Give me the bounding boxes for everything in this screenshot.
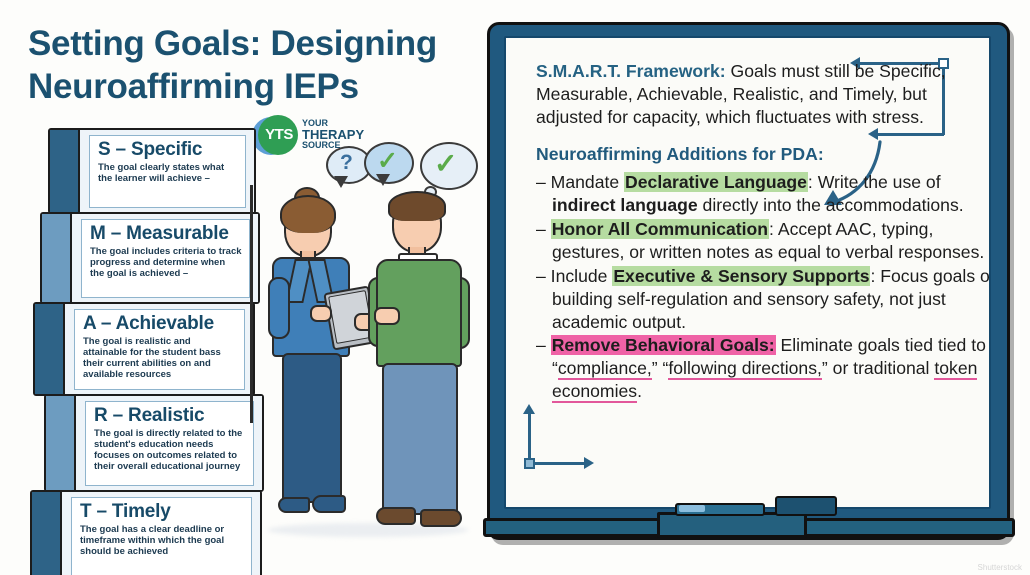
arrow-line-vertical-bottom-left — [528, 412, 531, 460]
smart-box-realistic: R – Realistic The goal is directly relat… — [44, 394, 264, 492]
logo-monogram: YTS — [259, 126, 299, 143]
neuroaffirming-bullet-list: – Mandate Declarative Language: Write th… — [536, 171, 966, 403]
bullet-underline-compliance: compliance, — [558, 358, 652, 380]
whiteboard-text: S.M.A.R.T. Framework: Goals must still b… — [536, 60, 966, 404]
smart-box-title: A – Achievable — [83, 314, 237, 335]
smart-box-timely: T – Timely The goal has a clear deadline… — [30, 490, 262, 575]
box-side-panel — [42, 214, 72, 302]
checkmark-icon: ✓ — [377, 149, 398, 174]
smart-box-title: M – Measurable — [90, 224, 242, 245]
box-face: T – Timely The goal has a clear deadline… — [62, 492, 260, 575]
woman-hair — [280, 195, 336, 233]
box-face: R – Realistic The goal is directly relat… — [76, 396, 262, 490]
bullet-pre-text: Mandate — [546, 172, 624, 192]
bullet-highlight: Remove Behavioral Goals: — [551, 335, 776, 355]
man-jeans — [382, 363, 458, 515]
smart-framework-label: S.M.A.R.T. Framework: — [536, 61, 726, 81]
smart-box-title: R – Realistic — [94, 406, 246, 427]
watermark-text: Shutterstock — [978, 563, 1022, 572]
man-hair — [388, 191, 446, 221]
people-illustration — [250, 185, 490, 570]
smart-box-achievable: A – Achievable The goal is realistic and… — [33, 302, 255, 396]
bullet-mid-b: ” or traditional — [822, 358, 934, 378]
bullet-remove-behavioral-goals: – Remove Behavioral Goals: Eliminate goa… — [536, 334, 991, 403]
box-face: A – Achievable The goal is realistic and… — [65, 304, 253, 394]
man-shoe-right — [420, 509, 462, 527]
arrow-line-horizontal-bottom-left — [535, 462, 585, 465]
bullet-highlight: Declarative Language — [624, 172, 808, 192]
smart-box-desc: The goal includes criteria to track prog… — [90, 246, 242, 279]
whiteboard-surface: S.M.A.R.T. Framework: Goals must still b… — [504, 36, 991, 509]
smart-box-desc: The goal is realistic and attainable for… — [83, 336, 237, 380]
infographic-page: Setting Goals: Designing Neuroaffirming … — [0, 0, 1030, 575]
box-face: S – Specific The goal clearly states wha… — [80, 130, 254, 212]
box-side-panel — [46, 396, 76, 490]
box-side-panel — [50, 130, 80, 212]
smart-framework-paragraph: S.M.A.R.T. Framework: Goals must still b… — [536, 60, 966, 129]
checkmark-thought-icon: ✓ — [434, 150, 457, 178]
man-shoe-left — [376, 507, 416, 525]
whiteboard-marker — [775, 496, 837, 516]
whiteboard-eraser-top — [679, 505, 705, 512]
bullet-mid-a: ” “ — [652, 358, 669, 378]
bullet-post-b: directly into the accommodations. — [698, 195, 964, 215]
bullet-post-b: . — [637, 381, 642, 401]
logo-word-therapy: THERAPY — [302, 128, 364, 141]
smart-box-title: S – Specific — [98, 140, 238, 161]
whiteboard: S.M.A.R.T. Framework: Goals must still b… — [487, 22, 1010, 540]
man-pointing-hand — [374, 307, 400, 325]
left-panel: Setting Goals: Designing Neuroaffirming … — [0, 0, 490, 575]
bullet-pre-text — [546, 219, 551, 239]
box-label-card: M – Measurable The goal includes criteri… — [81, 219, 250, 298]
smart-box-specific: S – Specific The goal clearly states wha… — [48, 128, 256, 214]
smart-box-desc: The goal has a clear deadline or timefra… — [80, 524, 244, 557]
bullet-dash: – — [536, 335, 546, 355]
box-label-card: R – Realistic The goal is directly relat… — [85, 401, 254, 486]
bullet-bold-mid: indirect language — [552, 195, 698, 215]
woman-hand-left — [310, 305, 332, 322]
bullet-dash: – — [536, 172, 546, 192]
bullet-honor-all-communication: – Honor All Communication: Accept AAC, t… — [536, 218, 991, 264]
page-title: Setting Goals: Designing Neuroaffirming … — [28, 22, 478, 108]
bullet-pre-text — [546, 335, 551, 355]
box-side-panel — [32, 492, 62, 575]
smart-box-desc: The goal clearly states what the learner… — [98, 162, 238, 184]
bullet-highlight: Executive & Sensory Supports — [612, 266, 870, 286]
diagram-node-bottom-left — [524, 458, 535, 469]
page-title-line-2: Neuroaffirming IEPs — [28, 65, 478, 108]
box-label-card: T – Timely The goal has a clear deadline… — [71, 497, 252, 575]
box-face: M – Measurable The goal includes criteri… — [72, 214, 258, 302]
bullet-highlight: Honor All Communication — [551, 219, 769, 239]
smart-boxes-stack: S – Specific The goal clearly states wha… — [30, 128, 260, 558]
man-leg-split — [250, 303, 253, 423]
woman-shoe-left — [278, 497, 310, 513]
box-label-card: S – Specific The goal clearly states wha… — [89, 135, 246, 208]
question-mark-icon: ? — [340, 152, 353, 173]
neuroaffirming-heading: Neuroaffirming Additions for PDA: — [536, 143, 966, 166]
bullet-pre-text: Include — [546, 266, 613, 286]
woman-shoe-right — [312, 495, 346, 513]
bullet-dash: – — [536, 266, 546, 286]
woman-arm-left — [268, 277, 290, 339]
bullet-executive-sensory-supports: – Include Executive & Sensory Supports: … — [536, 265, 991, 334]
page-title-line-1: Setting Goals: Designing — [28, 22, 478, 65]
woman-pants — [282, 353, 342, 503]
bullet-underline-following-directions: following directions, — [668, 358, 822, 380]
smart-box-desc: The goal is directly related to the stud… — [94, 428, 246, 472]
bullet-declarative-language: – Mandate Declarative Language: Write th… — [536, 171, 991, 217]
arrow-head-right-bottom-left-icon — [584, 457, 594, 469]
bullet-dash: – — [536, 219, 546, 239]
box-side-panel — [35, 304, 65, 394]
woman-leg-split — [250, 185, 253, 303]
smart-box-measurable: M – Measurable The goal includes criteri… — [40, 212, 260, 304]
bullet-post-a: : Write the use of — [808, 172, 941, 192]
smart-box-title: T – Timely — [80, 502, 244, 523]
box-label-card: A – Achievable The goal is realistic and… — [74, 309, 245, 390]
